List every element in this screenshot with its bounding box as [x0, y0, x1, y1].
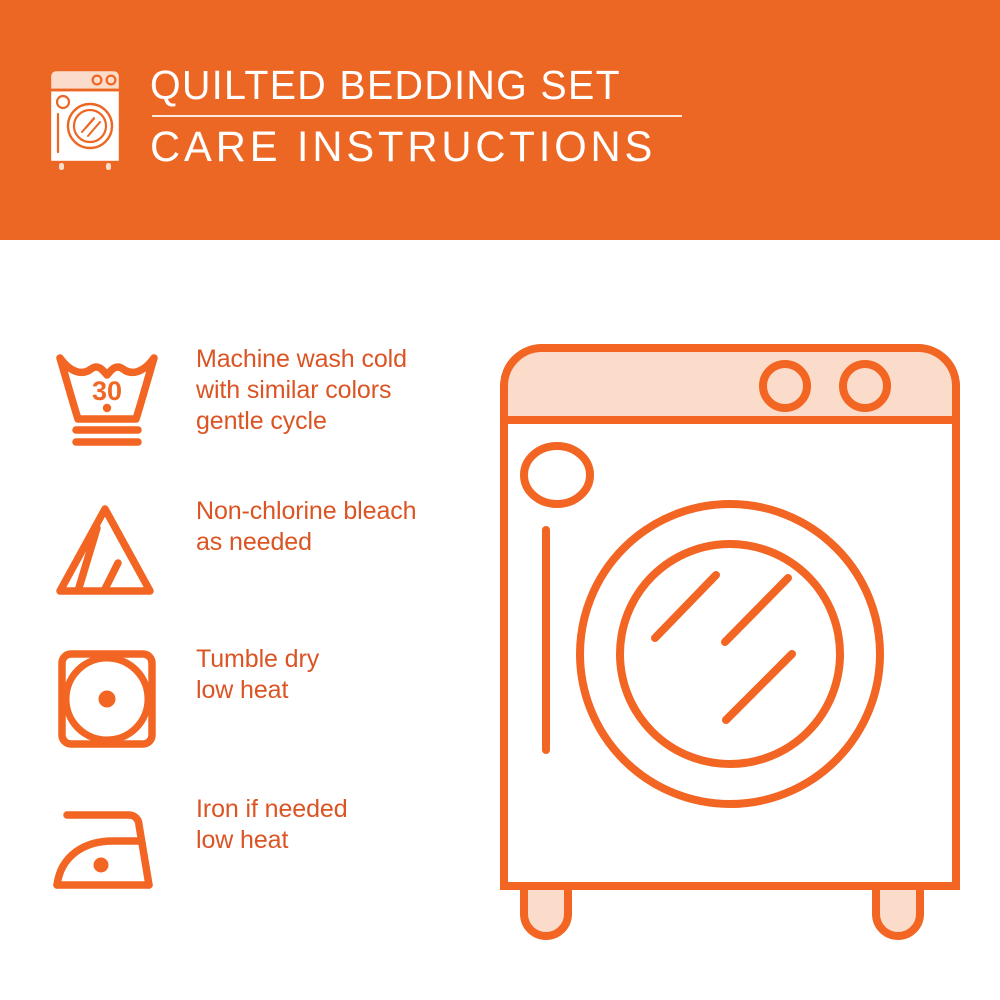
tumble-dry-low-heat-icon	[48, 640, 166, 758]
care-label-line: Iron if needed	[196, 794, 348, 825]
care-instruction-label: Tumble dry low heat	[196, 640, 319, 706]
washing-machine-icon	[42, 66, 134, 174]
wash-temperature-value: 30	[92, 376, 122, 406]
washing-machine-illustration	[480, 320, 980, 940]
care-instruction-item: 30 Machine wash cold with similar colors…	[48, 340, 488, 458]
care-instruction-item: Non-chlorine bleach as needed	[48, 492, 488, 610]
header-banner: QUILTED BEDDING SET CARE INSTRUCTIONS	[0, 0, 1000, 240]
page-subtitle: CARE INSTRUCTIONS	[150, 123, 666, 171]
care-label-line: Tumble dry	[196, 644, 319, 675]
care-label-line: with similar colors	[196, 375, 407, 406]
care-instruction-item: Iron if needed low heat	[48, 790, 488, 908]
care-instruction-label: Iron if needed low heat	[196, 790, 348, 856]
header-titles: QUILTED BEDDING SET CARE INSTRUCTIONS	[150, 62, 682, 171]
iron-low-heat-icon	[48, 790, 166, 908]
header-content: QUILTED BEDDING SET CARE INSTRUCTIONS	[42, 62, 682, 174]
title-divider	[152, 115, 682, 117]
care-label-line: low heat	[196, 675, 319, 706]
care-label-line: Non-chlorine bleach	[196, 496, 416, 527]
care-instruction-label: Machine wash cold with similar colors ge…	[196, 340, 407, 437]
care-instruction-item: Tumble dry low heat	[48, 640, 488, 758]
care-instructions-page: QUILTED BEDDING SET CARE INSTRUCTIONS	[0, 0, 1000, 1000]
non-chlorine-bleach-triangle-icon	[48, 492, 166, 610]
care-instruction-list: 30 Machine wash cold with similar colors…	[0, 240, 500, 1000]
care-label-line: low heat	[196, 825, 348, 856]
care-label-line: as needed	[196, 527, 416, 558]
care-label-line: Machine wash cold	[196, 344, 407, 375]
page-title: QUILTED BEDDING SET	[150, 62, 661, 108]
care-instruction-label: Non-chlorine bleach as needed	[196, 492, 416, 558]
machine-wash-30-gentle-icon: 30	[48, 340, 166, 458]
care-label-line: gentle cycle	[196, 406, 407, 437]
